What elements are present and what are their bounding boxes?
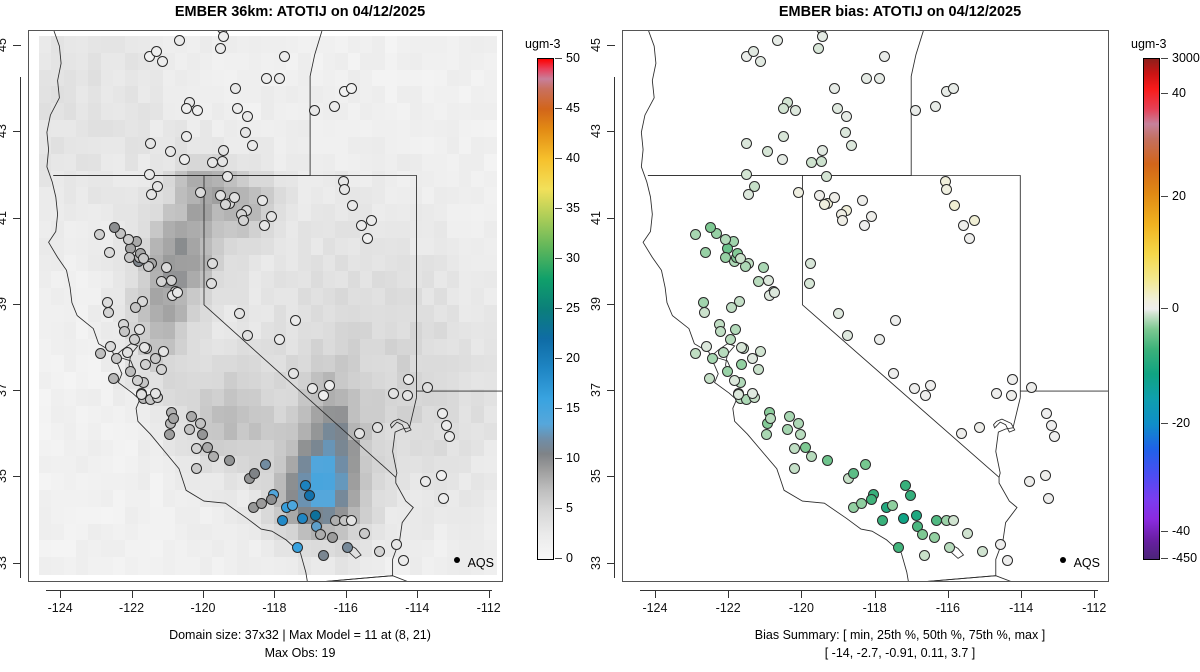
station-marker — [206, 278, 217, 289]
page-title-bias: EMBER bias: ATOTIJ on 04/12/2025 — [600, 4, 1200, 20]
station-marker-bias — [730, 324, 741, 335]
station-marker-bias — [758, 262, 769, 273]
colorbar-units-label: ugm-3 — [525, 37, 560, 51]
y-axis-label: 37 — [0, 383, 9, 397]
y-axis-tick — [607, 131, 615, 132]
station-marker — [140, 359, 151, 370]
figure-root: EMBER 36km: ATOTIJ on 04/12/2025 AQS 333… — [0, 0, 1200, 672]
station-marker — [181, 131, 192, 142]
colorbar-tick — [555, 58, 562, 59]
colorbar-tick-label: 45 — [566, 101, 580, 115]
station-marker — [195, 187, 206, 198]
aqs-legend-label: AQS — [468, 556, 494, 570]
station-marker — [172, 287, 183, 298]
colorbar-tick — [555, 158, 562, 159]
station-marker — [242, 330, 253, 341]
x-axis-line — [46, 590, 492, 591]
y-axis-label: 33 — [589, 556, 603, 570]
station-marker — [124, 252, 135, 263]
station-marker-bias — [860, 459, 871, 470]
station-marker — [103, 307, 114, 318]
station-marker-bias — [846, 140, 857, 151]
station-marker-bias — [866, 494, 877, 505]
x-axis-label: -122 — [119, 601, 144, 615]
x-axis-tick — [655, 590, 656, 598]
state-border-path — [909, 576, 1077, 581]
station-marker-bias — [1002, 555, 1013, 566]
x-axis-tick — [274, 590, 275, 598]
state-border-path — [393, 398, 417, 478]
y-axis-label: 43 — [0, 124, 9, 138]
coastline-path — [390, 419, 411, 432]
station-marker — [300, 480, 311, 491]
station-marker-bias — [778, 131, 789, 142]
station-marker-bias — [1007, 374, 1018, 385]
station-marker-bias — [909, 383, 920, 394]
station-marker — [372, 422, 383, 433]
y-axis-label: 41 — [589, 211, 603, 225]
colorbar-gradient — [537, 58, 554, 560]
colorbar-tick — [555, 458, 562, 459]
station-marker-bias — [701, 341, 712, 352]
x-axis-tick — [948, 590, 949, 598]
colorbar-tick — [555, 508, 562, 509]
station-marker-bias — [822, 455, 833, 466]
colorbar-tick — [555, 208, 562, 209]
station-marker — [95, 348, 106, 359]
colorbar-tick — [555, 258, 562, 259]
station-marker-bias — [763, 275, 774, 286]
colorbar-tick-label: 3000 — [1172, 51, 1200, 65]
station-marker — [109, 222, 120, 233]
colorbar-tick — [555, 408, 562, 409]
station-marker-bias — [729, 375, 740, 386]
station-marker — [130, 302, 141, 313]
colorbar-tick — [1161, 558, 1168, 559]
station-marker-bias — [720, 252, 731, 263]
station-marker — [191, 463, 202, 474]
colorbar-tick-label: 15 — [566, 401, 580, 415]
station-marker — [222, 171, 233, 182]
y-axis-tick — [607, 390, 615, 391]
station-marker — [94, 229, 105, 240]
station-marker-bias — [948, 83, 959, 94]
station-marker-bias — [690, 229, 701, 240]
station-marker — [388, 388, 399, 399]
station-marker-bias — [962, 528, 973, 539]
station-marker-bias — [790, 105, 801, 116]
station-marker — [260, 459, 271, 470]
x-axis-line — [640, 590, 1098, 591]
station-marker — [207, 258, 218, 269]
y-axis-label: 35 — [0, 469, 9, 483]
station-marker — [129, 334, 140, 345]
station-marker — [161, 262, 172, 273]
station-marker-bias — [753, 364, 764, 375]
x-axis-label: -116 — [936, 601, 960, 615]
y-axis-tick — [13, 390, 21, 391]
station-marker-bias — [958, 220, 969, 231]
station-marker — [257, 195, 268, 206]
station-marker — [208, 451, 219, 462]
y-axis-tick — [13, 563, 21, 564]
state-border-path — [204, 176, 417, 398]
caption-bias-values: [ -14, -2.7, -0.91, 0.11, 3.7 ] — [600, 646, 1200, 660]
station-marker — [122, 347, 133, 358]
colorbar-tick — [1161, 308, 1168, 309]
station-marker-bias — [1026, 382, 1037, 393]
station-marker-bias — [816, 156, 827, 167]
station-marker — [108, 373, 119, 384]
station-marker — [247, 140, 258, 151]
colorbar-tick-label: 20 — [1172, 189, 1186, 203]
station-marker-bias — [874, 334, 885, 345]
colorbar-tick-label: 30 — [566, 251, 580, 265]
station-marker-bias — [1046, 420, 1057, 431]
station-marker — [444, 431, 455, 442]
colorbar-gradient — [1143, 58, 1160, 560]
aqs-legend-dot — [454, 557, 460, 563]
station-marker-bias — [755, 346, 766, 357]
x-axis-label: -124 — [642, 601, 667, 615]
colorbar-tick-label: -450 — [1172, 551, 1197, 565]
y-axis-label: 45 — [589, 38, 603, 52]
station-marker-bias — [995, 539, 1006, 550]
station-marker-bias — [761, 429, 772, 440]
station-marker-bias — [941, 184, 952, 195]
station-marker — [310, 510, 321, 521]
x-axis-tick — [1021, 590, 1022, 598]
colorbar-tick — [555, 308, 562, 309]
caption-max-obs: Max Obs: 19 — [0, 646, 600, 660]
colorbar-tick-label: -40 — [1172, 524, 1190, 538]
y-axis-line — [20, 77, 21, 577]
station-marker-bias — [857, 195, 868, 206]
station-marker-bias — [804, 278, 815, 289]
station-marker-bias — [741, 169, 752, 180]
station-marker-bias — [920, 390, 931, 401]
y-axis-tick — [13, 131, 21, 132]
station-marker — [156, 276, 167, 287]
station-marker-bias — [911, 510, 922, 521]
coastline-path — [994, 419, 1015, 432]
y-axis-label: 39 — [589, 297, 603, 311]
colorbar-tick — [555, 108, 562, 109]
x-axis-label: -122 — [716, 601, 741, 615]
station-marker — [402, 390, 413, 401]
station-marker-bias — [842, 330, 853, 341]
station-marker — [437, 408, 448, 419]
station-marker-bias — [755, 56, 766, 67]
station-marker — [342, 542, 353, 553]
station-marker — [274, 334, 285, 345]
station-marker-bias — [840, 127, 851, 138]
station-marker-bias — [699, 307, 710, 318]
colorbar-tick-label: 20 — [566, 351, 580, 365]
x-axis-label: -124 — [48, 601, 73, 615]
y-axis-tick — [607, 45, 615, 46]
station-marker — [436, 470, 447, 481]
x-axis-label: -112 — [1082, 601, 1106, 615]
x-axis-label: -116 — [334, 601, 358, 615]
station-marker — [181, 103, 192, 114]
y-axis-label: 41 — [0, 211, 9, 225]
station-marker — [168, 413, 179, 424]
station-marker-bias — [859, 220, 870, 231]
station-marker-bias — [944, 542, 955, 553]
station-marker — [197, 429, 208, 440]
station-marker — [242, 111, 253, 122]
colorbar-tick-label: 0 — [566, 551, 573, 565]
x-axis-tick — [728, 590, 729, 598]
station-marker-bias — [829, 83, 840, 94]
station-marker — [224, 455, 235, 466]
station-marker-bias — [877, 515, 888, 526]
station-marker-bias — [704, 373, 715, 384]
station-marker — [279, 51, 290, 62]
colorbar-tick-label: -20 — [1172, 416, 1190, 430]
station-marker — [422, 382, 433, 393]
station-marker — [195, 418, 206, 429]
station-marker — [230, 83, 241, 94]
station-marker — [277, 515, 288, 526]
state-border-path — [996, 398, 1021, 478]
x-axis-label: -114 — [405, 601, 429, 615]
x-axis-tick — [417, 590, 418, 598]
station-marker-bias — [813, 43, 824, 54]
y-axis-tick — [13, 304, 21, 305]
station-marker-bias — [969, 215, 980, 226]
colorbar-tick — [1161, 93, 1168, 94]
x-axis-tick — [346, 590, 347, 598]
station-marker-bias — [1024, 476, 1035, 487]
station-marker-bias — [743, 189, 754, 200]
colorbar-tick — [1161, 196, 1168, 197]
station-marker — [134, 324, 145, 335]
station-marker — [166, 275, 177, 286]
x-axis-tick — [489, 590, 490, 598]
panel-bias: EMBER bias: ATOTIJ on 04/12/2025 AQS 333… — [600, 0, 1200, 672]
station-marker-bias — [736, 342, 747, 353]
station-marker — [266, 494, 277, 505]
aqs-legend-label-bias: AQS — [1074, 556, 1100, 570]
station-marker — [215, 43, 226, 54]
y-axis-label: 37 — [589, 383, 603, 397]
y-axis-label: 43 — [589, 124, 603, 138]
station-marker — [359, 528, 370, 539]
y-axis-label: 45 — [0, 38, 9, 52]
colorbar-tick — [1161, 423, 1168, 424]
y-axis-tick — [607, 563, 615, 564]
colorbar-tick — [1161, 58, 1168, 59]
station-marker — [297, 513, 308, 524]
station-marker-bias — [991, 388, 1002, 399]
state-border-path — [308, 576, 472, 581]
station-marker — [287, 500, 298, 511]
y-axis-tick — [607, 476, 615, 477]
x-axis-label: -118 — [262, 601, 286, 615]
x-axis-label: -120 — [789, 601, 814, 615]
colorbar-tick-label: 50 — [566, 51, 580, 65]
y-axis-tick — [13, 218, 21, 219]
colorbar-tick-label: 35 — [566, 201, 580, 215]
station-marker — [346, 83, 357, 94]
station-marker — [158, 346, 169, 357]
map-plot-bias: AQS — [622, 30, 1109, 582]
station-marker-bias — [1040, 470, 1051, 481]
state-border-path — [802, 176, 1020, 398]
station-marker — [259, 220, 270, 231]
station-marker — [238, 215, 249, 226]
x-axis-label: -120 — [190, 601, 215, 615]
station-marker-bias — [929, 532, 940, 543]
aqs-legend-dot-bias — [1060, 557, 1066, 563]
colorbar-tick-label: 5 — [566, 501, 573, 515]
x-axis-tick — [801, 590, 802, 598]
colorbar-units-label: ugm-3 — [1131, 37, 1166, 51]
station-marker — [165, 146, 176, 157]
station-marker — [138, 253, 149, 264]
colorbar-tick-label: 40 — [1172, 86, 1186, 100]
station-marker-bias — [772, 35, 783, 46]
x-axis-label: -112 — [477, 601, 501, 615]
y-axis-tick — [607, 304, 615, 305]
y-axis-line — [614, 77, 615, 577]
station-marker-bias — [977, 546, 988, 557]
x-axis-label: -114 — [1009, 601, 1033, 615]
station-marker-bias — [777, 154, 788, 165]
colorbar-tick-label: 0 — [1172, 301, 1179, 315]
caption-bias-header: Bias Summary: [ min, 25th %, 50th %, 75t… — [600, 628, 1200, 642]
station-marker — [145, 138, 156, 149]
station-marker — [356, 220, 367, 231]
station-marker — [174, 35, 185, 46]
station-marker-bias — [736, 359, 747, 370]
station-marker — [105, 341, 116, 352]
x-axis-tick — [1094, 590, 1095, 598]
colorbar-tick-label: 40 — [566, 151, 580, 165]
map-plot-model: AQS — [28, 30, 503, 582]
station-marker-bias — [817, 145, 828, 156]
station-marker-bias — [861, 73, 872, 84]
station-marker — [144, 169, 155, 180]
colorbar-tick-label: 25 — [566, 301, 580, 315]
station-marker — [164, 429, 175, 440]
station-marker — [192, 105, 203, 116]
station-marker — [156, 364, 167, 375]
station-marker-bias — [821, 171, 832, 182]
station-marker-bias — [735, 253, 746, 264]
colorbar-tick — [555, 558, 562, 559]
station-marker — [139, 342, 150, 353]
station-marker-bias — [700, 247, 711, 258]
x-axis-tick — [203, 590, 204, 598]
station-marker — [261, 73, 272, 84]
station-marker-bias — [874, 73, 885, 84]
caption-domain-size: Domain size: 37x32 | Max Model = 11 at (… — [0, 628, 600, 642]
station-marker — [132, 375, 143, 386]
y-axis-label: 35 — [589, 469, 603, 483]
station-marker — [362, 233, 373, 244]
station-marker — [179, 154, 190, 165]
y-axis-label: 39 — [0, 297, 9, 311]
colorbar-tick — [555, 358, 562, 359]
station-marker — [339, 184, 350, 195]
station-marker — [218, 145, 229, 156]
station-marker-bias — [949, 200, 960, 211]
station-marker-bias — [720, 234, 731, 245]
station-marker-bias — [1049, 431, 1060, 442]
x-axis-tick — [132, 590, 133, 598]
y-axis-label: 33 — [0, 556, 9, 570]
colorbar-tick — [1161, 531, 1168, 532]
page-title: EMBER 36km: ATOTIJ on 04/12/2025 — [0, 4, 600, 20]
station-marker — [329, 101, 340, 112]
station-marker — [347, 200, 358, 211]
colorbar-tick-label: 10 — [566, 451, 580, 465]
x-axis-tick — [60, 590, 61, 598]
station-marker-bias — [1006, 390, 1017, 401]
station-marker — [420, 476, 431, 487]
station-marker — [249, 468, 260, 479]
station-marker — [288, 368, 299, 379]
station-marker-bias — [748, 46, 759, 57]
station-marker-bias — [848, 468, 859, 479]
panel-model: EMBER 36km: ATOTIJ on 04/12/2025 AQS 333… — [0, 0, 600, 672]
x-axis-label: -118 — [863, 601, 887, 615]
y-axis-tick — [607, 218, 615, 219]
x-axis-tick — [875, 590, 876, 598]
station-marker-bias — [829, 192, 840, 203]
station-marker — [151, 46, 162, 57]
y-axis-tick — [13, 45, 21, 46]
station-marker-bias — [898, 513, 909, 524]
station-marker-bias — [1041, 408, 1052, 419]
station-marker — [274, 73, 285, 84]
station-marker-bias — [1043, 493, 1054, 504]
station-marker — [374, 546, 385, 557]
station-marker-bias — [705, 222, 716, 233]
station-marker — [290, 315, 301, 326]
station-marker-bias — [769, 287, 780, 298]
y-axis-tick — [13, 476, 21, 477]
